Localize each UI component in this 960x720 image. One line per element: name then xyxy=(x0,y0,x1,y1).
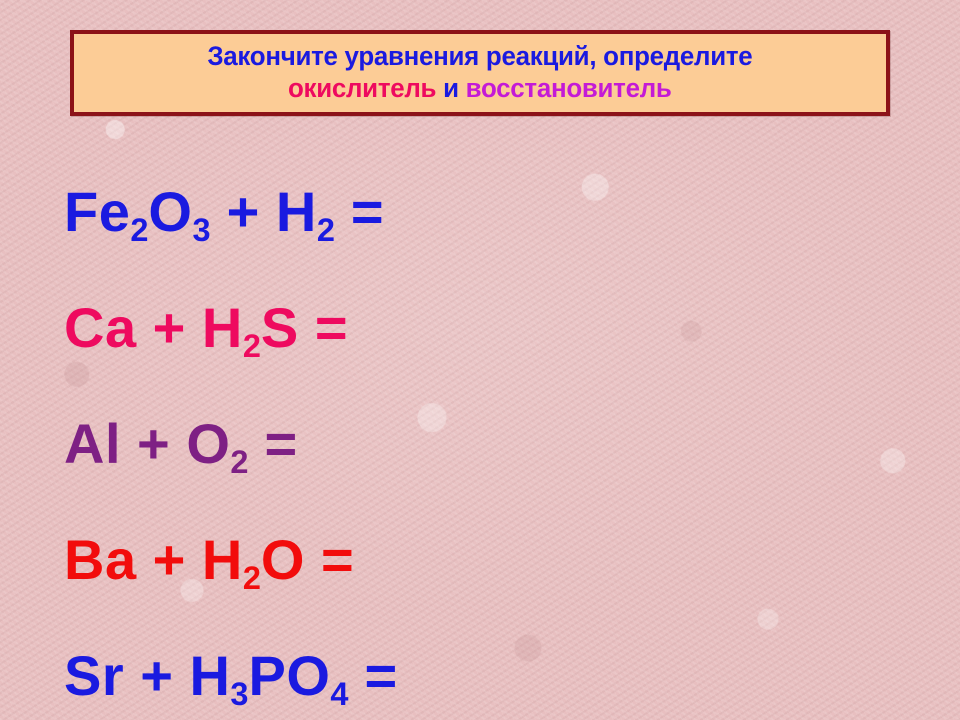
formula-segment: O xyxy=(148,180,192,243)
subscript: 4 xyxy=(330,676,348,712)
subscript: 2 xyxy=(130,212,148,248)
title-word-reducer: восстановитель xyxy=(466,73,672,103)
equation-2: Ca + H2S = xyxy=(64,274,924,390)
subscript: 2 xyxy=(230,444,248,480)
subscript: 3 xyxy=(230,676,248,712)
equation-3: Al + O2 = xyxy=(64,390,924,506)
formula-segment: Ba + H xyxy=(64,528,243,591)
formula-segment: Fe xyxy=(64,180,130,243)
formula-segment: = xyxy=(335,180,384,243)
formula-segment: Ca + H xyxy=(64,296,243,359)
formula-segment: O = xyxy=(261,528,354,591)
subscript: 2 xyxy=(243,560,261,596)
equation-5: Sr + H3PO4 = xyxy=(64,622,924,720)
subscript: 2 xyxy=(243,328,261,364)
title-banner: Закончите уравнения реакций, определите … xyxy=(70,30,890,116)
formula-segment: = xyxy=(248,412,297,475)
formula-segment: + H xyxy=(211,180,317,243)
title-line-secondary: окислитель и восстановитель xyxy=(288,73,672,105)
equation-1: Fe2O3 + H2 = xyxy=(64,158,924,274)
subscript: 2 xyxy=(317,212,335,248)
slide-background: Закончите уравнения реакций, определите … xyxy=(0,0,960,720)
title-word-oxidizer: окислитель xyxy=(288,73,436,103)
equation-list: Fe2O3 + H2 =Ca + H2S =Al + O2 =Ba + H2O … xyxy=(64,158,924,720)
equation-4: Ba + H2O = xyxy=(64,506,924,622)
formula-segment: S = xyxy=(261,296,348,359)
formula-segment: Sr + H xyxy=(64,644,230,707)
formula-segment: Al + O xyxy=(64,412,230,475)
formula-segment: PO xyxy=(248,644,330,707)
title-line-primary: Закончите уравнения реакций, определите xyxy=(207,41,752,73)
title-word-conjunction: и xyxy=(436,73,465,103)
formula-segment: = xyxy=(348,644,397,707)
subscript: 3 xyxy=(192,212,210,248)
